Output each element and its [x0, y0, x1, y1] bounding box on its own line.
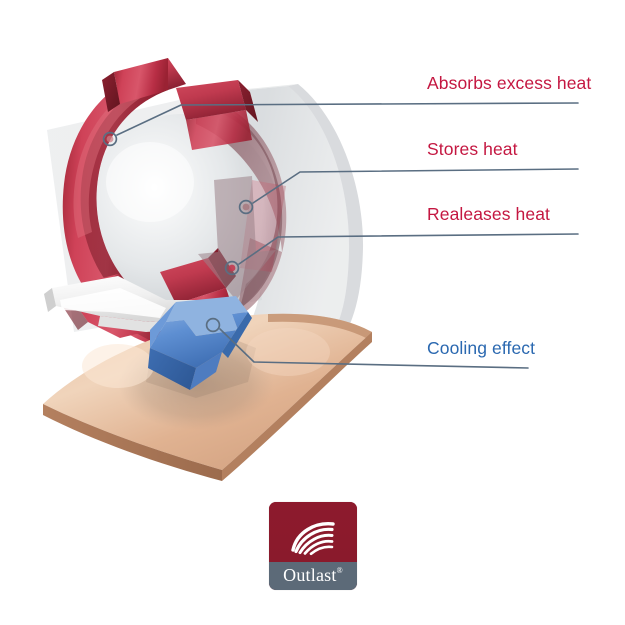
infographic-canvas: Absorbs excess heat Stores heat Realease…	[0, 0, 625, 625]
outlast-logo: Outlast®	[269, 502, 357, 590]
logo-wordmark-text: Outlast®	[283, 565, 343, 586]
outlast-swoosh-icon	[287, 520, 339, 556]
logo-wordmark-band: Outlast®	[269, 562, 357, 590]
callout-label-cooling-effect: Cooling effect	[427, 340, 535, 358]
callout-label-stores-heat: Stores heat	[427, 141, 518, 159]
callout-label-releases-heat: Realeases heat	[427, 206, 550, 224]
callout-label-absorbs-excess-heat: Absorbs excess heat	[427, 75, 591, 93]
